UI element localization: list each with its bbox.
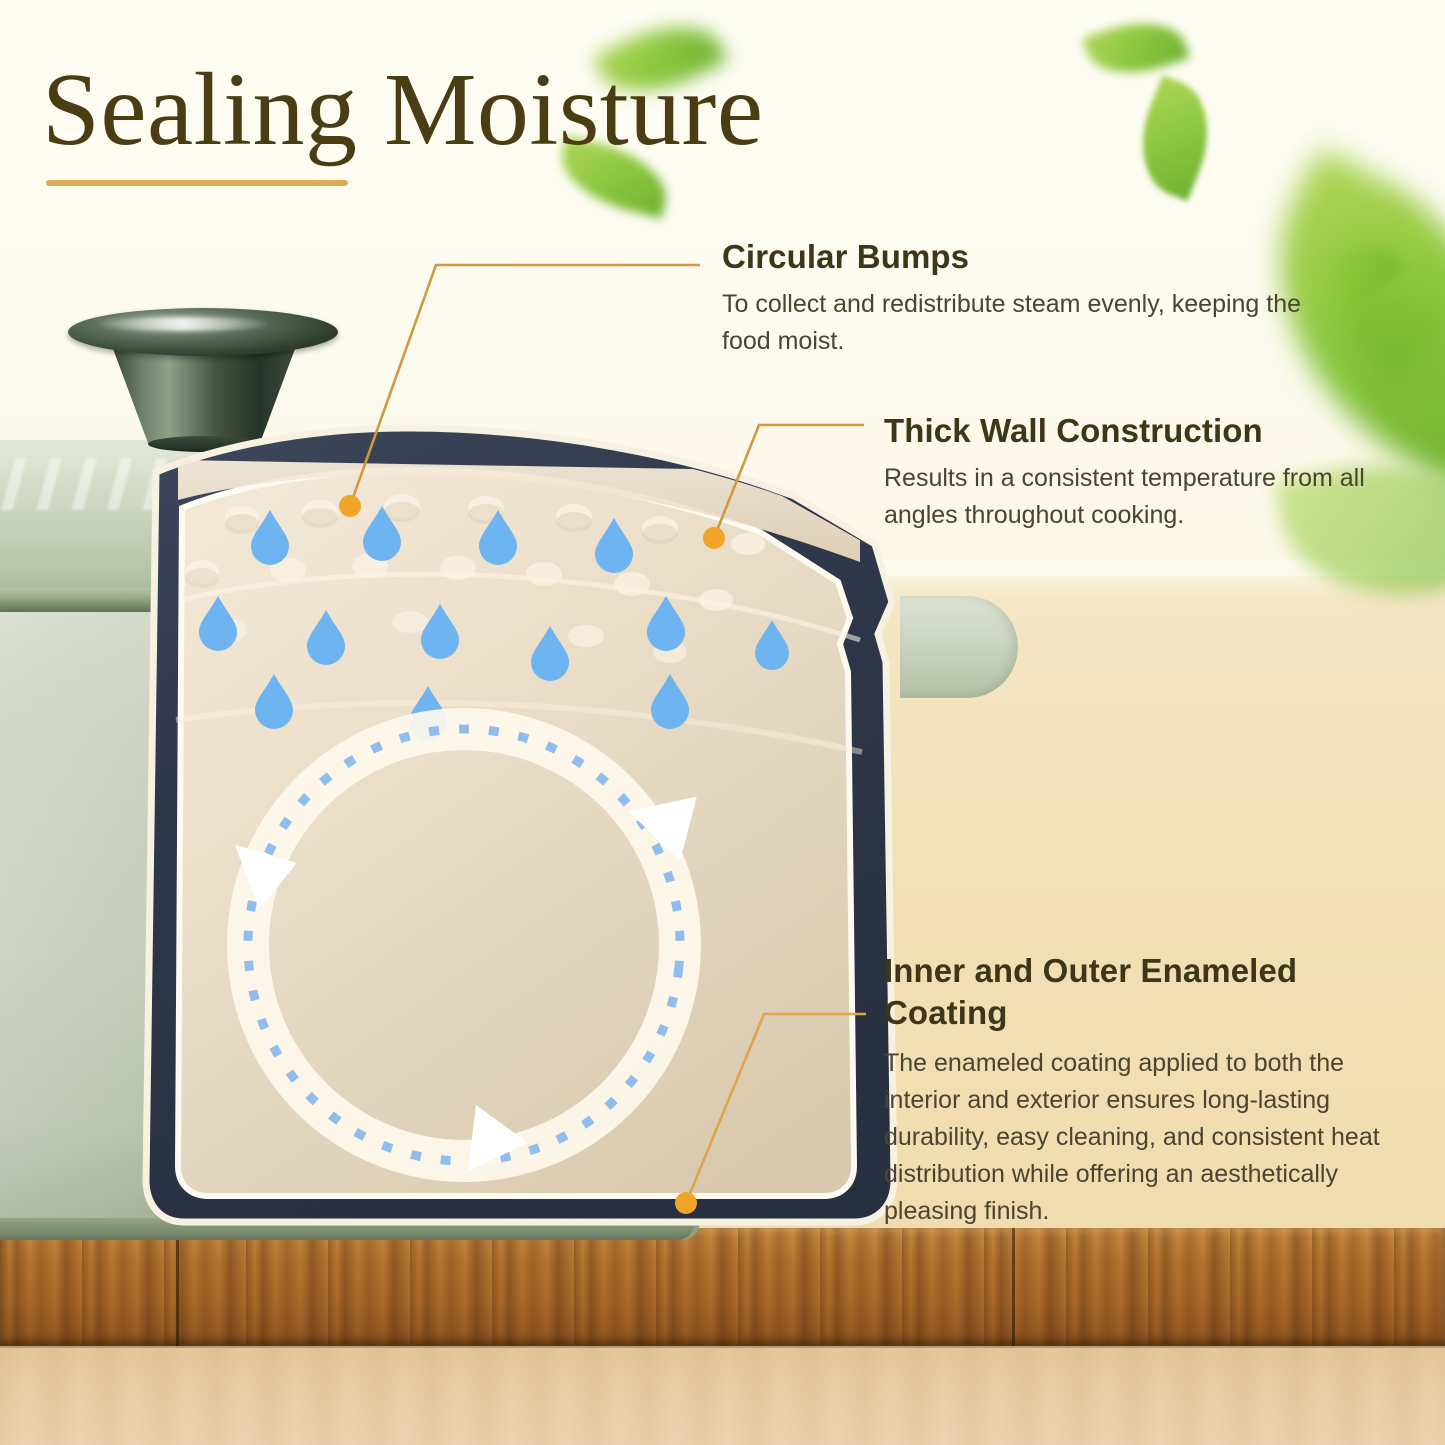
callout-body: Results in a consistent temperature from… — [884, 460, 1384, 534]
pot-cutaway — [0, 300, 980, 1250]
dutch-oven — [0, 300, 980, 1250]
callout-title: Circular Bumps — [722, 237, 1322, 277]
callout-circular-bumps: Circular Bumps To collect and redistribu… — [722, 237, 1322, 360]
callout-inner-outer-enameled-coating: Inner and Outer Enameled Coating The ena… — [884, 950, 1414, 1230]
title-underline — [46, 180, 348, 186]
counter-surface — [0, 1348, 1445, 1445]
page-title: Sealing Moisture — [42, 56, 763, 164]
callout-thick-wall-construction: Thick Wall Construction Results in a con… — [884, 411, 1384, 534]
infographic-canvas: Sealing Moisture Circular Bumps To colle… — [0, 0, 1445, 1445]
callout-body: The enameled coating applied to both the… — [884, 1045, 1419, 1230]
callout-body: To collect and redistribute steam evenly… — [722, 286, 1302, 360]
callout-title: Thick Wall Construction — [884, 411, 1384, 451]
callout-title: Inner and Outer Enameled Coating — [884, 950, 1414, 1034]
